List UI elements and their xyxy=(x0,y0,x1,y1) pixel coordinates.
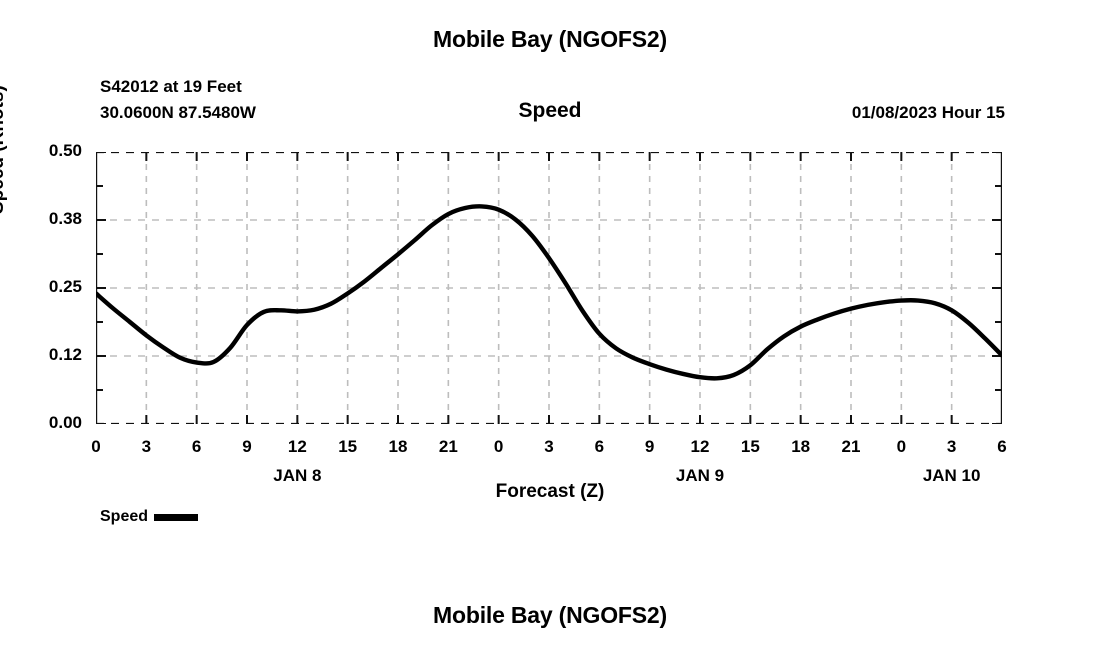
plot-area xyxy=(96,152,1002,424)
x-axis-tick-label: 9 xyxy=(630,437,670,457)
legend-label-speed: Speed xyxy=(100,508,148,526)
page-title-top: Mobile Bay (NGOFS2) xyxy=(0,26,1100,53)
x-axis-tick-label: 18 xyxy=(378,437,418,457)
page-title-bottom: Mobile Bay (NGOFS2) xyxy=(0,602,1100,629)
chart-legend: Speed xyxy=(100,508,198,526)
x-axis-tick-label: 6 xyxy=(177,437,217,457)
y-axis-tick-label: 0.38 xyxy=(4,209,82,229)
x-axis-tick-label: 6 xyxy=(982,437,1022,457)
x-axis-tick-label: 0 xyxy=(76,437,116,457)
y-axis-tick-label: 0.25 xyxy=(4,277,82,297)
x-axis-tick-label: 12 xyxy=(277,437,317,457)
x-axis-tick-label: 6 xyxy=(579,437,619,457)
x-axis-tick-label: 0 xyxy=(881,437,921,457)
chart-page: Mobile Bay (NGOFS2) S42012 at 19 Feet 30… xyxy=(0,0,1100,650)
speed-line-chart xyxy=(96,152,1002,424)
x-axis-tick-label: 21 xyxy=(428,437,468,457)
y-axis-title: Speed (Knots) xyxy=(0,14,9,214)
x-axis-title: Forecast (Z) xyxy=(0,481,1100,503)
y-axis-tick-label: 0.00 xyxy=(4,413,82,433)
x-axis-tick-label: 3 xyxy=(932,437,972,457)
legend-swatch-speed xyxy=(154,514,198,521)
y-axis-tick-label: 0.12 xyxy=(4,345,82,365)
x-axis-tick-label: 15 xyxy=(730,437,770,457)
x-axis-tick-label: 3 xyxy=(126,437,166,457)
x-axis-tick-label: 3 xyxy=(529,437,569,457)
y-axis-tick-label: 0.50 xyxy=(4,141,82,161)
station-label: S42012 at 19 Feet xyxy=(100,77,242,97)
x-axis-tick-label: 18 xyxy=(781,437,821,457)
x-axis-tick-label: 15 xyxy=(328,437,368,457)
run-time-label: 01/08/2023 Hour 15 xyxy=(852,103,1005,123)
x-axis-tick-label: 9 xyxy=(227,437,267,457)
x-axis-tick-label: 21 xyxy=(831,437,871,457)
x-axis-tick-label: 0 xyxy=(479,437,519,457)
x-axis-tick-label: 12 xyxy=(680,437,720,457)
